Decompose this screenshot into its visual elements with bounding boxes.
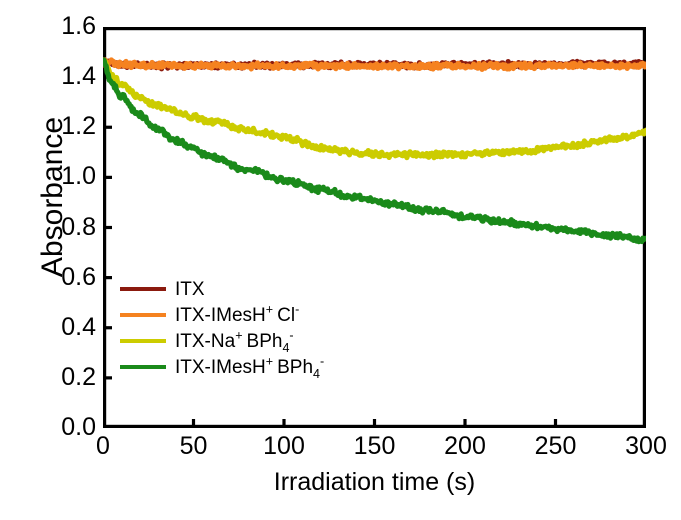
legend-item: ITX-IMesH+Cl-	[120, 302, 370, 328]
legend-color-swatch	[120, 339, 166, 343]
x-axis-label: Irradiation time (s)	[103, 468, 646, 497]
y-tick-label: 1.4	[36, 64, 96, 89]
y-tick-label: 1.2	[36, 114, 96, 139]
x-tick-label: 150	[335, 434, 415, 459]
chart-legend: ITXITX-IMesH+Cl-ITX-Na+BPh4-ITX-IMesH+BP…	[120, 276, 370, 380]
x-tick-label: 200	[425, 434, 505, 459]
legend-label: ITX-IMesH+Cl-	[175, 306, 299, 325]
legend-item: ITX-IMesH+BPh4-	[120, 354, 370, 380]
legend-label: ITX	[175, 280, 205, 299]
legend-label: ITX-Na+BPh4-	[175, 332, 294, 351]
legend-color-swatch	[120, 313, 166, 317]
chart-figure: Absorbance 0.00.20.40.60.81.01.21.41.6 0…	[0, 0, 681, 520]
x-axis-tick-labels: 050100150200250300	[0, 434, 681, 468]
x-tick-label: 100	[244, 434, 324, 459]
y-tick-label: 1.6	[36, 14, 96, 39]
x-tick-label: 0	[63, 434, 143, 459]
y-axis-tick-labels: 0.00.20.40.60.81.01.21.41.6	[30, 0, 96, 460]
legend-item: ITX-Na+BPh4-	[120, 328, 370, 354]
legend-label: ITX-IMesH+BPh4-	[175, 358, 324, 377]
x-tick-label: 250	[516, 434, 596, 459]
x-tick-label: 50	[154, 434, 234, 459]
y-tick-label: 0.8	[36, 215, 96, 240]
legend-color-swatch	[120, 287, 166, 291]
y-tick-label: 0.6	[36, 265, 96, 290]
y-tick-label: 1.0	[36, 164, 96, 189]
legend-color-swatch	[120, 365, 166, 369]
legend-item: ITX	[120, 276, 370, 302]
y-tick-label: 0.2	[36, 365, 96, 390]
y-tick-label: 0.4	[36, 315, 96, 340]
x-tick-label: 300	[606, 434, 681, 459]
